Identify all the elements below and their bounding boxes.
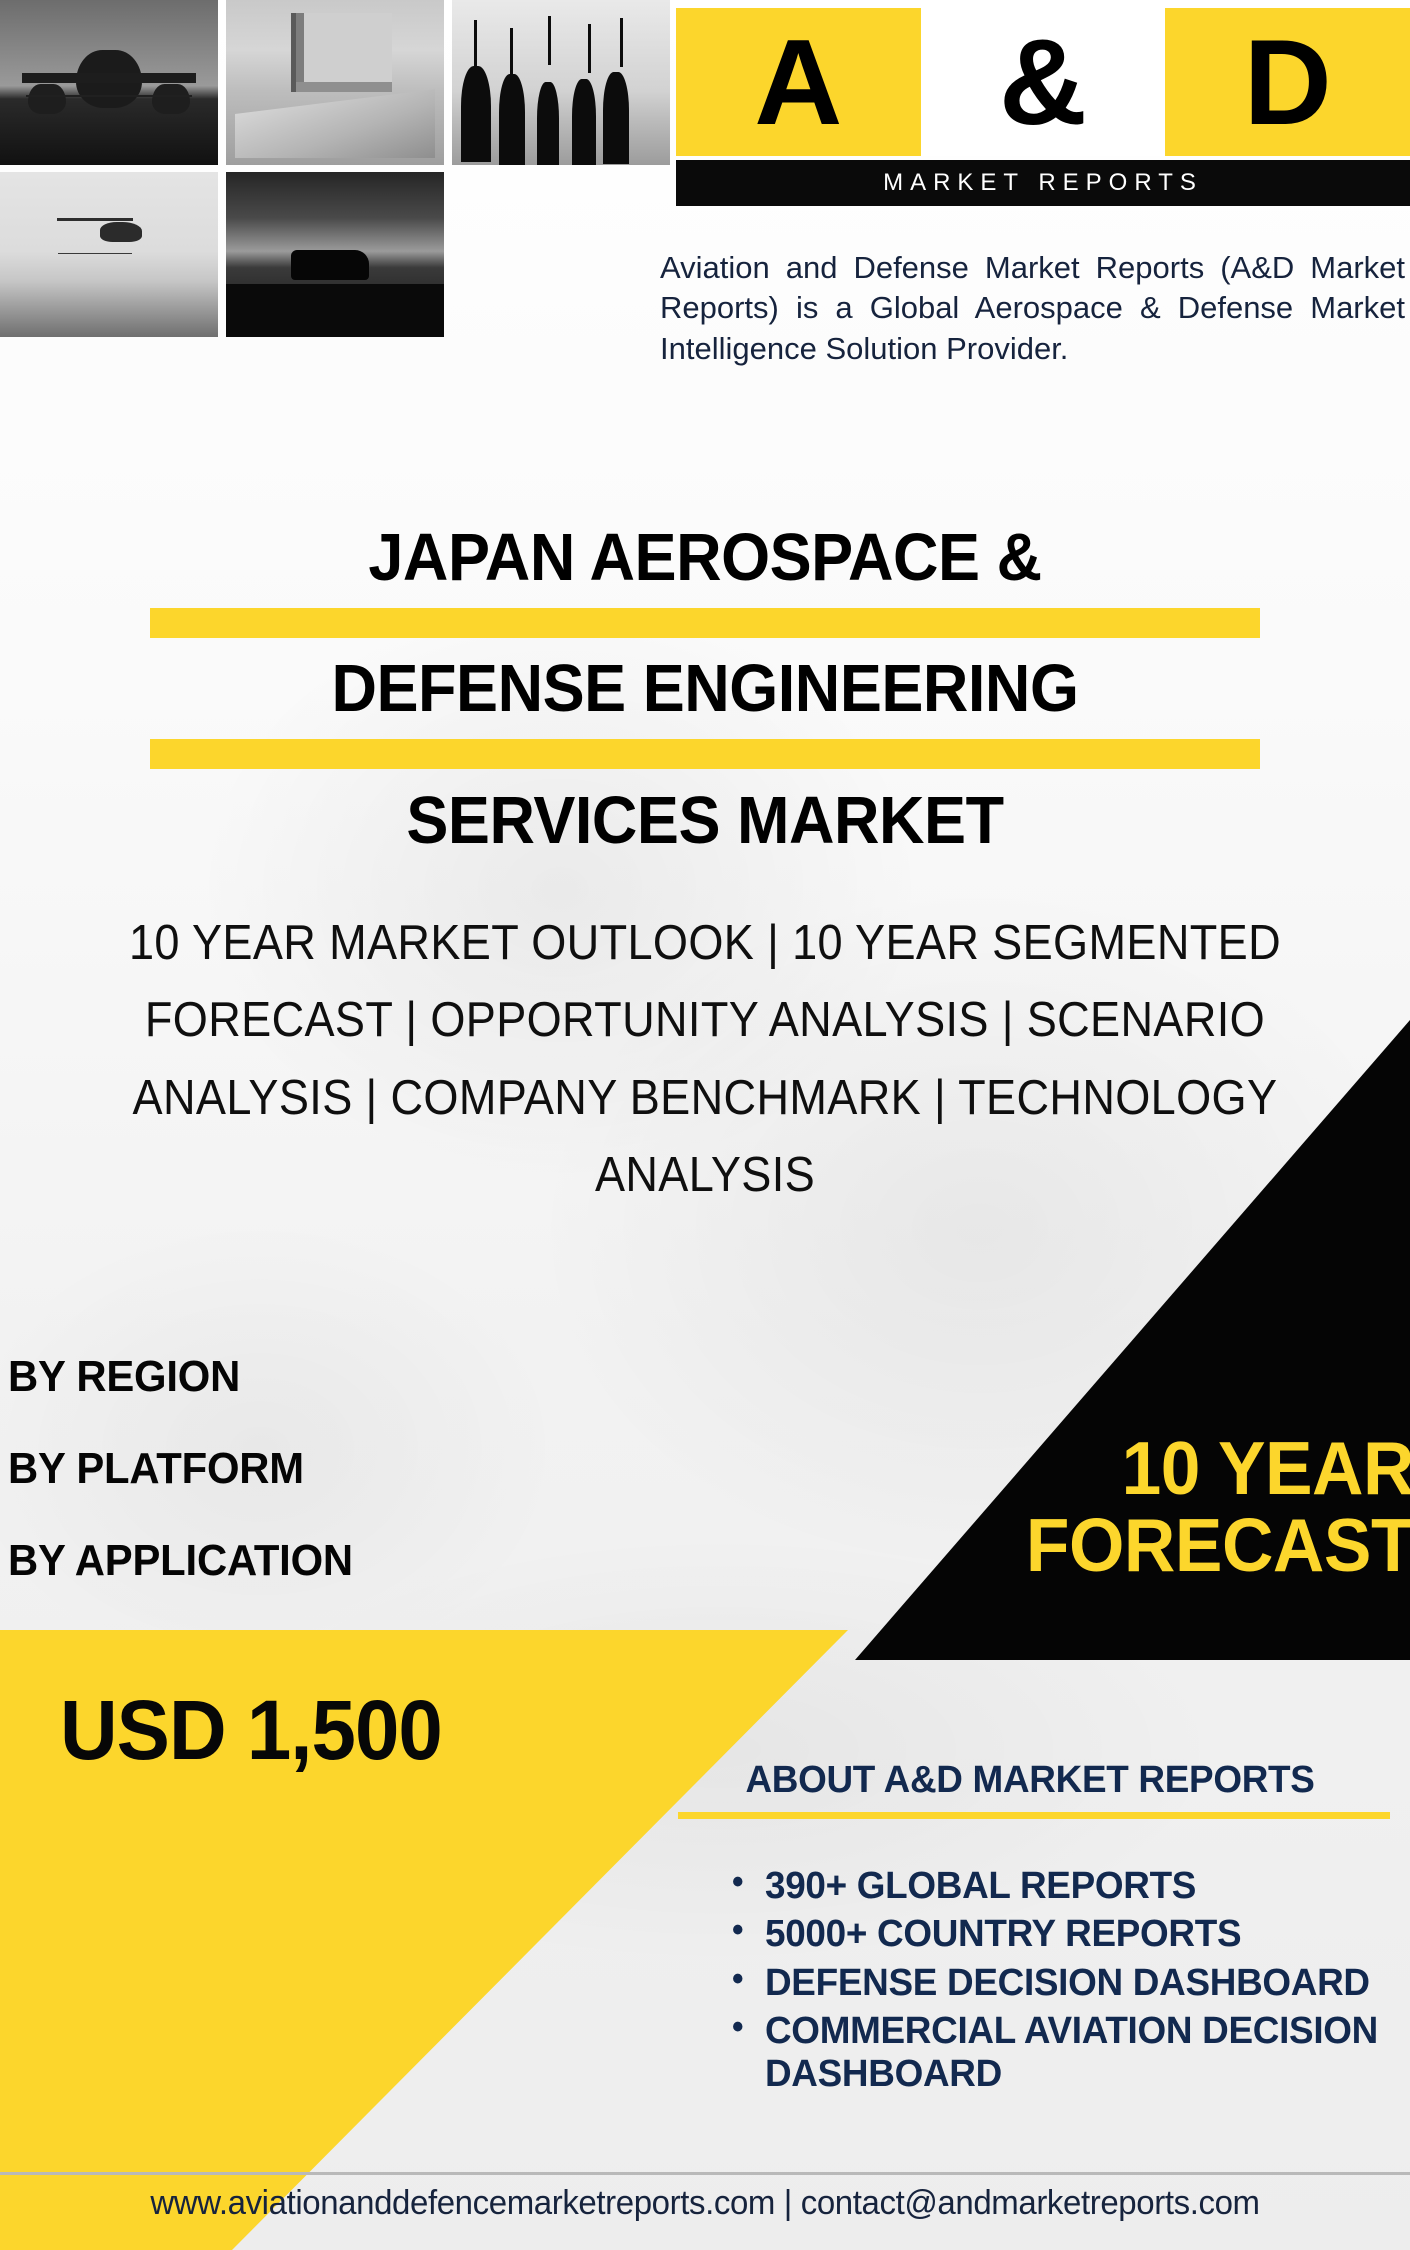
about-bullet-defense-dashboard: DEFENSE DECISION DASHBOARD [732,1962,1380,2005]
title-line-1: JAPAN AEROSPACE & [42,520,1367,591]
footer-divider [0,2172,1410,2175]
about-panel: ABOUT A&D MARKET REPORTS 390+ GLOBAL REP… [660,1760,1400,2102]
logo-letter-row: A & D [676,8,1410,156]
about-heading: ABOUT A&D MARKET REPORTS [671,1760,1389,1802]
segment-by-application: BY APPLICATION [8,1539,616,1583]
brand-logo: A & D MARKET REPORTS [676,0,1410,210]
logo-letter-amp: & [921,8,1166,156]
forecast-badge-line-1: 10 YEAR [882,1430,1410,1507]
about-bullet-list: 390+ GLOBAL REPORTS 5000+ COUNTRY REPORT… [732,1865,1400,2096]
about-heading-underline [678,1812,1390,1819]
fighter-jet-photo [0,0,218,165]
aircraft-carrier-photo [226,0,444,165]
segment-by-region: BY REGION [8,1355,616,1399]
report-title-block: JAPAN AEROSPACE & DEFENSE ENGINEERING SE… [0,520,1410,854]
forecast-badge: 10 YEAR FORECAST [882,1430,1410,1583]
logo-market-reports-band: MARKET REPORTS [676,160,1410,206]
footer-contact: www.aviationanddefencemarketreports.com … [21,2184,1389,2223]
segment-by-platform: BY PLATFORM [8,1447,616,1491]
segmentation-list: BY REGION BY PLATFORM BY APPLICATION [8,1355,648,1631]
logo-letter-d: D [1165,8,1410,156]
title-divider-bar-2 [150,739,1260,769]
soldiers-silhouette-photo [452,0,670,165]
about-bullet-aviation-dashboard: COMMERCIAL AVIATION DECISION DASHBOARD [732,2010,1380,2095]
about-bullet-global-reports: 390+ GLOBAL REPORTS [732,1865,1380,1908]
report-cover-poster: A & D MARKET REPORTS Aviation and Defens… [0,0,1410,2250]
about-bullet-country-reports: 5000+ COUNTRY REPORTS [732,1913,1380,1956]
military-helicopter-photo [0,172,218,337]
title-line-2: DEFENSE ENGINEERING [42,655,1367,722]
company-intro-paragraph: Aviation and Defense Market Reports (A&D… [660,248,1405,369]
title-divider-bar-1 [150,608,1260,638]
logo-letter-a: A [676,8,921,156]
report-subtitle: 10 YEAR MARKET OUTLOOK | 10 YEAR SEGMENT… [66,905,1345,1215]
price-label: USD 1,500 [60,1688,442,1772]
title-line-3: SERVICES MARKET [42,787,1367,854]
forecast-badge-line-2: FORECAST [882,1507,1410,1584]
armored-vehicle-photo [226,172,444,337]
